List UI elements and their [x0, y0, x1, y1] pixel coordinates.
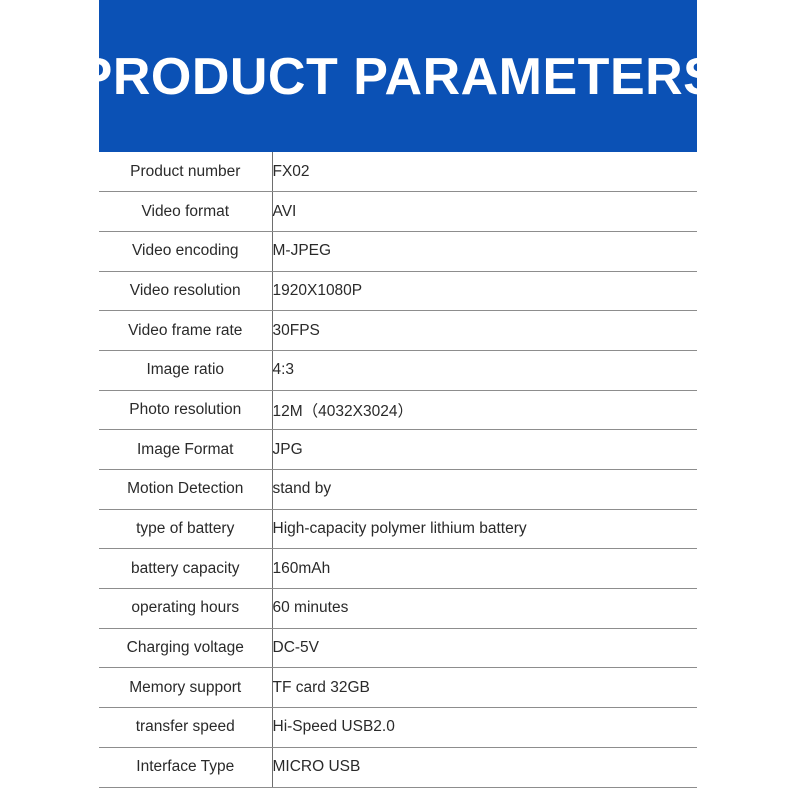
- table-row: Video resolution 1920X1080P: [99, 271, 697, 311]
- spec-label: battery capacity: [99, 549, 272, 589]
- table-row: transfer speed Hi-Speed USB2.0: [99, 708, 697, 748]
- table-row: type of battery High-capacity polymer li…: [99, 509, 697, 549]
- spec-label: Image ratio: [99, 350, 272, 390]
- product-parameters-page: PRODUCT PARAMETERS Product number FX02 V…: [0, 0, 800, 800]
- spec-value: 1920X1080P: [272, 271, 697, 311]
- spec-label: Charging voltage: [99, 628, 272, 668]
- spec-label: Interface Type: [99, 747, 272, 787]
- spec-value: stand by: [272, 470, 697, 510]
- spec-value: Hi-Speed USB2.0: [272, 708, 697, 748]
- specifications-table-body: Product number FX02 Video format AVI Vid…: [99, 152, 697, 787]
- spec-value: 60 minutes: [272, 589, 697, 629]
- spec-value: JPG: [272, 430, 697, 470]
- spec-value: FX02: [272, 152, 697, 192]
- spec-label: Photo resolution: [99, 390, 272, 430]
- spec-label: Video format: [99, 192, 272, 232]
- table-row: operating hours 60 minutes: [99, 589, 697, 629]
- spec-value: 160mAh: [272, 549, 697, 589]
- table-row: Video encoding M-JPEG: [99, 231, 697, 271]
- spec-label: Image Format: [99, 430, 272, 470]
- specifications-table: Product number FX02 Video format AVI Vid…: [99, 152, 697, 788]
- spec-label: operating hours: [99, 589, 272, 629]
- table-row: Product number FX02: [99, 152, 697, 192]
- page-title: PRODUCT PARAMETERS: [78, 51, 719, 103]
- spec-value: DC-5V: [272, 628, 697, 668]
- product-parameters-banner: PRODUCT PARAMETERS: [99, 0, 697, 152]
- table-row: Image ratio 4:3: [99, 350, 697, 390]
- spec-label: Memory support: [99, 668, 272, 708]
- spec-label: transfer speed: [99, 708, 272, 748]
- spec-label: type of battery: [99, 509, 272, 549]
- spec-value: 12M（4032X3024）: [272, 390, 697, 430]
- table-row: Motion Detection stand by: [99, 470, 697, 510]
- spec-value: 30FPS: [272, 311, 697, 351]
- spec-value: MICRO USB: [272, 747, 697, 787]
- spec-value: TF card 32GB: [272, 668, 697, 708]
- table-row: Video frame rate 30FPS: [99, 311, 697, 351]
- spec-value: AVI: [272, 192, 697, 232]
- spec-value: M-JPEG: [272, 231, 697, 271]
- table-row: battery capacity 160mAh: [99, 549, 697, 589]
- table-row: Photo resolution 12M（4032X3024）: [99, 390, 697, 430]
- spec-label: Motion Detection: [99, 470, 272, 510]
- spec-value: 4:3: [272, 350, 697, 390]
- table-row: Image Format JPG: [99, 430, 697, 470]
- spec-value: High-capacity polymer lithium battery: [272, 509, 697, 549]
- table-row: Video format AVI: [99, 192, 697, 232]
- spec-label: Video resolution: [99, 271, 272, 311]
- table-row: Interface Type MICRO USB: [99, 747, 697, 787]
- spec-label: Product number: [99, 152, 272, 192]
- table-row: Memory support TF card 32GB: [99, 668, 697, 708]
- table-row: Charging voltage DC-5V: [99, 628, 697, 668]
- spec-label: Video frame rate: [99, 311, 272, 351]
- spec-label: Video encoding: [99, 231, 272, 271]
